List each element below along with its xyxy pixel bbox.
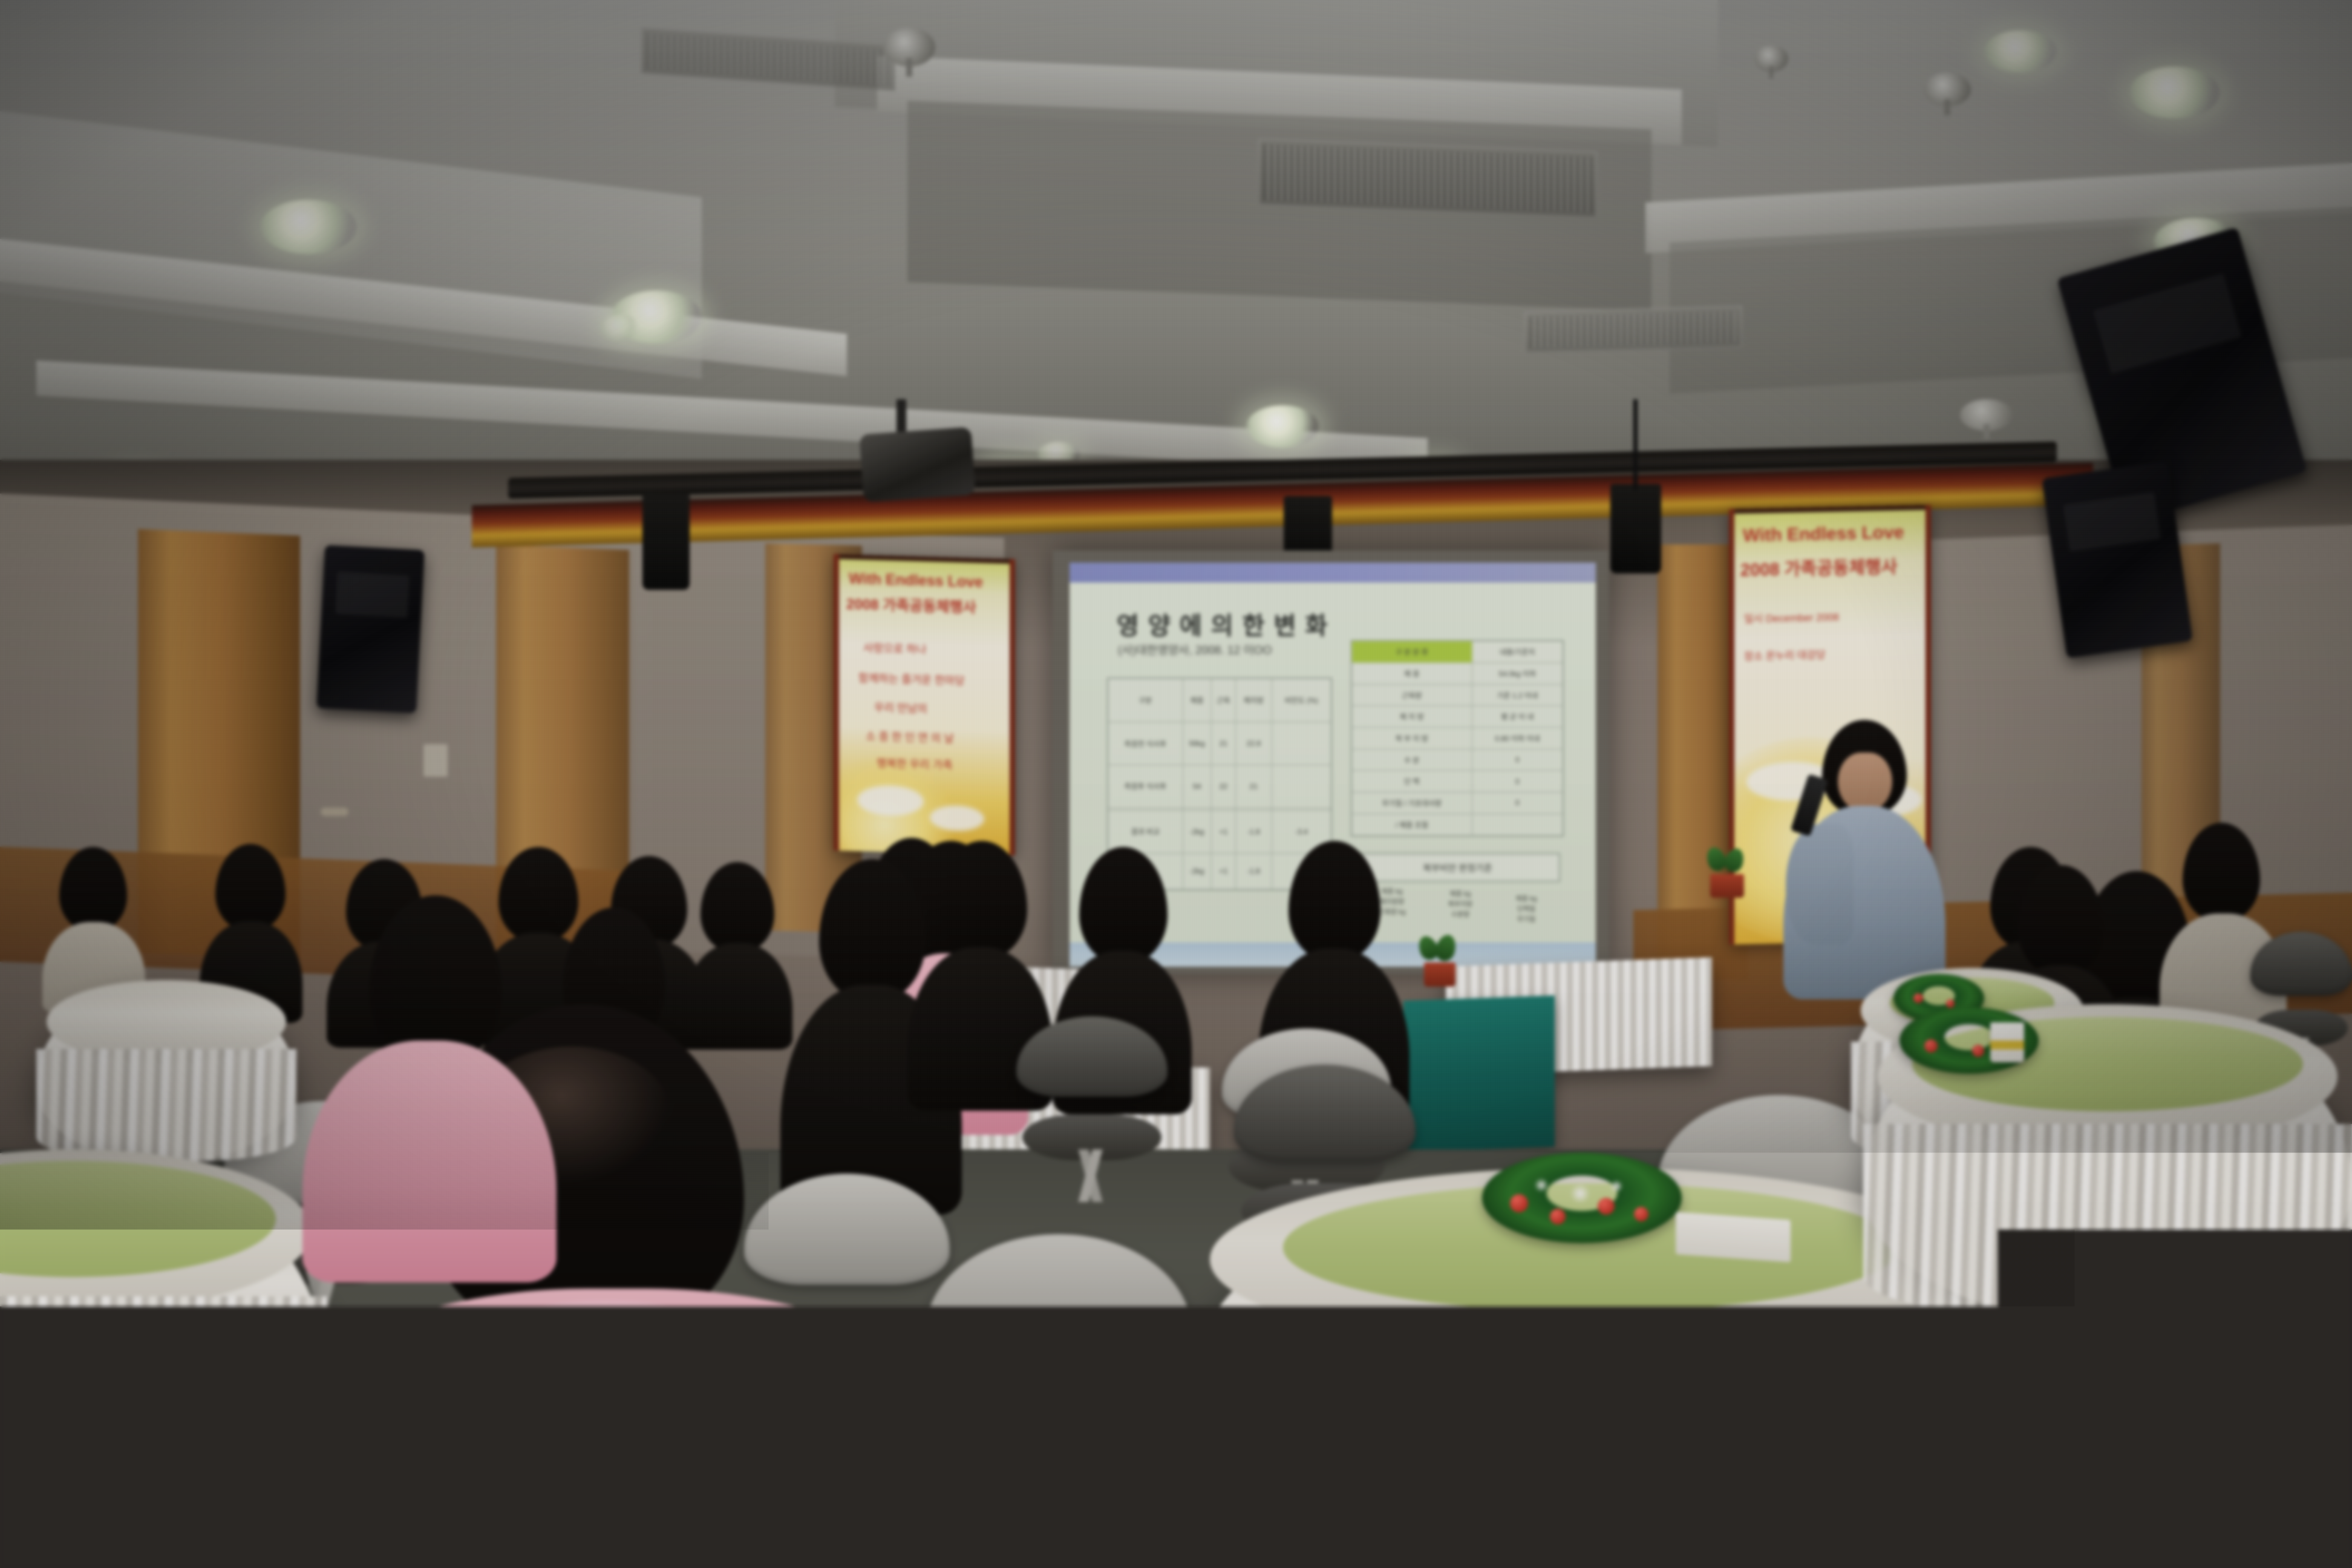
table-row: 체 지 방 평 균 이 내 — [1351, 706, 1563, 728]
slide-top-band — [1070, 563, 1596, 583]
ornament-sparkle — [1610, 1180, 1623, 1193]
sprinkler-head-4 — [1960, 399, 2013, 431]
track-spotlight-1 — [642, 493, 690, 590]
wall-speaker-right — [2042, 461, 2193, 658]
banner-left-line-2: 함께하는 즐거운 한마당 — [858, 670, 965, 688]
table-row: 측정후 식사후 54 22 21 — [1108, 765, 1331, 808]
cell: 21 — [1236, 765, 1272, 808]
table-linen-drape — [1863, 1124, 2352, 1319]
banner-right-korean-title: 2008 가족공동체행사 — [1740, 553, 1897, 581]
ceiling-projector — [859, 427, 975, 503]
potted-plant-right — [1701, 847, 1753, 898]
cell-header: 구 분 분 류 — [1351, 641, 1472, 663]
cell: -2kg — [1183, 810, 1211, 853]
side-table-left — [944, 964, 1143, 1062]
cell: 체지방 — [1236, 678, 1272, 722]
paper-cup-right — [1990, 1022, 2024, 1062]
banner-right-line-1: 일시 December 2008 — [1744, 609, 1839, 626]
cell: -3.4 — [1272, 810, 1331, 853]
ornament-sparkle — [1534, 1178, 1549, 1192]
speaker-grille — [2063, 492, 2161, 551]
cell — [1108, 853, 1183, 890]
cell-header: 내용/기준치 — [1472, 641, 1563, 663]
cup-band — [1013, 1069, 1042, 1077]
slide-right-table: 구 분 분 류 내용/기준치 체 중 54.0kg 이하 근육량 기준 1.2 … — [1351, 640, 1564, 837]
cell: 결과 비교 — [1108, 810, 1183, 853]
napkin-on-table — [1676, 1212, 1791, 1262]
cell — [1272, 722, 1331, 765]
wreath-berry — [1550, 1209, 1566, 1224]
table-row: 체 중 54.0kg 이하 — [1351, 663, 1563, 685]
cell: +1 — [1211, 853, 1235, 890]
banner-left-line-4: 소 중 한 인 연 의 날 — [866, 728, 954, 746]
cell — [1272, 765, 1331, 808]
presentation-slide: 영 양 에 의 한 변 화 (사)대한영양사, 2008. 12 이OO 구분 … — [1070, 563, 1596, 967]
wall-plate-left — [423, 744, 448, 777]
cell: 비만도 (%) — [1272, 678, 1331, 722]
downlight-3 — [1246, 405, 1319, 448]
table-row: -2kg +1 -1.8 -3.4 — [1108, 853, 1331, 890]
slide-footer-note-3: 체중 kg 단백질 무기질 — [1494, 894, 1558, 925]
banner-left-line-3: 우리 만남의 — [874, 699, 927, 716]
slide-subtitle: (사)대한영양사, 2008. 12 이OO — [1118, 641, 1272, 658]
wall-speaker-left — [316, 545, 425, 713]
cell: / 체중 조절 — [1351, 814, 1472, 836]
track-spotlight-3 — [1610, 484, 1661, 573]
cell: 54.0kg 이하 — [1472, 663, 1563, 685]
potted-plant-front — [1416, 935, 1464, 987]
plant-leaf — [1433, 932, 1459, 963]
banner-left: With Endless Love 2008 가족공동체행사 사랑으로 하나 함… — [834, 554, 1015, 855]
flower-pot — [1710, 874, 1743, 898]
wall-outlet-plate-right — [2199, 847, 2230, 890]
cell: 체중 — [1183, 678, 1211, 722]
cell — [1472, 814, 1563, 836]
table-linen — [944, 964, 1143, 1062]
downlight-10 — [1984, 30, 2057, 73]
table-row: 구분 체중 근육 체지방 비만도 (%) — [1108, 678, 1331, 722]
table-row: 구 분 분 류 내용/기준치 — [1351, 641, 1563, 663]
wreath-berry — [1634, 1207, 1648, 1221]
slide-footer-note-2: 체중 kg 복부지방 수분량 — [1428, 889, 1493, 920]
cell: 구분 — [1108, 678, 1183, 722]
banner-left-korean-title: 2008 가족공동체행사 — [846, 592, 976, 616]
slide-bottom-band — [1070, 942, 1596, 967]
cell: 근육량 — [1351, 684, 1472, 706]
door-handle-left[interactable] — [321, 808, 348, 816]
cell: 측정후 식사후 — [1108, 765, 1183, 808]
table-row: 근육량 기준 1.2 이내 — [1351, 684, 1563, 706]
speaker-grille — [2093, 273, 2241, 374]
cell: 22 — [1211, 765, 1235, 808]
table-row: 결과 비교 -2kg +1 -1.8 -3.4 — [1108, 810, 1331, 853]
truss-drop-cable — [1633, 399, 1638, 490]
cell: 무기질 / 기초대사량 — [1351, 792, 1472, 814]
cell: 측정전 식사후 — [1108, 722, 1183, 765]
slide-footer-banner: 복부비만 판정기준 — [1355, 853, 1560, 882]
table-row: / 체중 조절 — [1351, 814, 1563, 836]
table-row: 복 부 지 방 0.80 이하 이내 — [1351, 728, 1563, 750]
wreath-berry — [1510, 1194, 1528, 1212]
flower-pot — [1424, 962, 1455, 987]
downlight-1 — [260, 200, 357, 254]
downlight-6 — [2129, 67, 2220, 119]
cell: -2kg — [1183, 853, 1211, 890]
paper-cup — [1013, 1051, 1042, 1089]
ornament-sparkle — [1570, 1183, 1590, 1204]
banner-left-line-5: 행복한 우리 가족 — [877, 755, 953, 773]
wainscot-left — [0, 847, 641, 987]
round-table-rear-left — [36, 980, 296, 1161]
cell: 0 — [1472, 771, 1563, 792]
cell: 기준 1.2 이내 — [1472, 684, 1563, 706]
wreath-berry — [1972, 1045, 1984, 1057]
slide-footer-note-1: 체중 kg 체지방량 근육량 kg — [1359, 887, 1425, 918]
cell: 체 지 방 — [1351, 706, 1472, 728]
downlight-9 — [599, 315, 641, 341]
table-linen-drape — [36, 1049, 296, 1161]
plant-leaf — [1722, 846, 1747, 874]
cell: -3.4 — [1272, 853, 1331, 890]
cell: -1.8 — [1236, 853, 1272, 890]
hvac-vent-center — [1258, 139, 1597, 218]
centerpiece-wreath-center — [1482, 1152, 1682, 1243]
wreath-berry — [1598, 1198, 1615, 1215]
cup-band — [1990, 1040, 2024, 1050]
slide-title: 영 양 에 의 한 변 화 — [1117, 606, 1328, 641]
banner-right-english-title: With Endless Love — [1743, 522, 1904, 546]
cell: 56kg — [1183, 722, 1211, 765]
cell: 수 분 — [1351, 749, 1472, 771]
sun-graphic — [1729, 735, 1922, 945]
cell: 단 백 — [1351, 771, 1472, 792]
wreath-berry — [1924, 1039, 1938, 1053]
cell: +1 — [1211, 810, 1235, 853]
sprinkler-head-2 — [1754, 45, 1788, 72]
slide-left-table: 구분 체중 근육 체지방 비만도 (%) 측정전 식사후 56kg 21 22.… — [1107, 678, 1332, 890]
cell: 평 균 이 내 — [1472, 706, 1563, 728]
table-row: 측정전 식사후 56kg 21 22.8 — [1108, 722, 1331, 765]
table-row: 무기질 / 기초대사량 0 — [1351, 792, 1563, 814]
cell: 22.8 — [1236, 722, 1272, 765]
cell: 0 — [1472, 749, 1563, 771]
table-row: 단 백 0 — [1351, 771, 1563, 792]
cell: 21 — [1211, 722, 1235, 765]
table-row: 수 분 0 — [1351, 749, 1563, 771]
cell: 근육 — [1211, 678, 1235, 722]
table-linen-drape — [1186, 1319, 1996, 1567]
hvac-vent-right — [1524, 305, 1742, 354]
cell: 복 부 지 방 — [1351, 728, 1472, 750]
banner-left-english-title: With Endless Love — [849, 570, 983, 592]
head-table-teal-cloth — [1403, 996, 1555, 1152]
speaker-grille — [335, 572, 409, 618]
sprinkler-head-3 — [1924, 73, 1971, 106]
banner-right-line-2: 장소 온누리 대강당 — [1744, 646, 1826, 663]
cell: 0.80 이하 이내 — [1472, 728, 1563, 750]
cell: 0 — [1472, 792, 1563, 814]
wreath-berry — [1946, 999, 1955, 1008]
banner-left-line-1: 사랑으로 하나 — [863, 639, 926, 657]
sprinkler-head-1 — [883, 28, 935, 67]
cell: 체 중 — [1351, 663, 1472, 685]
wreath-berry — [1913, 993, 1923, 1003]
conference-hall-photograph: 영 양 에 의 한 변 화 (사)대한영양사, 2008. 12 이OO 구분 … — [0, 0, 2352, 1568]
banner-right: With Endless Love 2008 가족공동체행사 일시 Decemb… — [1729, 505, 1931, 945]
cell: 54 — [1183, 765, 1211, 808]
cell: -1.8 — [1236, 810, 1272, 853]
